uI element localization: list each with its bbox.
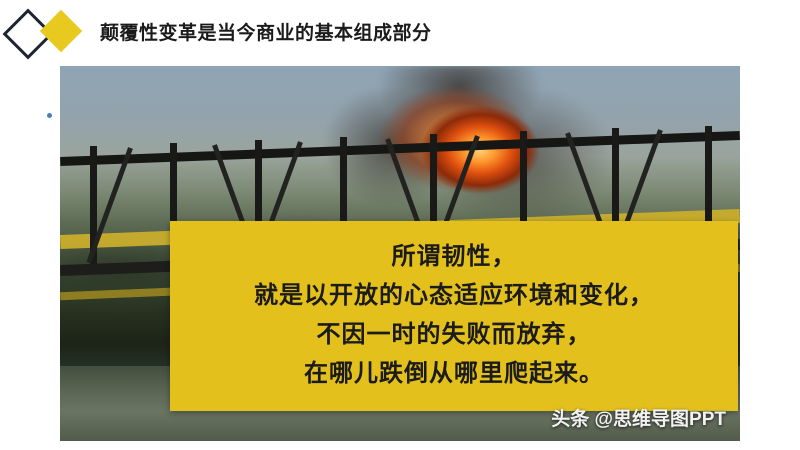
page-title: 颠覆性变革是当今商业的基本组成部分 <box>100 18 432 45</box>
decor-dot-blue <box>47 113 52 118</box>
quote-line: 就是以开放的心态适应环境和变化， <box>254 277 654 316</box>
quote-line: 在哪儿跌倒从哪里爬起来。 <box>304 355 604 394</box>
quote-card: 所谓韧性， 就是以开放的心态适应环境和变化， 不因一时的失败而放弃， 在哪儿跌倒… <box>170 221 738 411</box>
quote-line: 所谓韧性， <box>392 238 517 277</box>
slide-header: 颠覆性变革是当今商业的基本组成部分 <box>0 0 800 62</box>
slide: 颠覆性变革是当今商业的基本组成部分 <box>0 0 800 450</box>
bridge-top-chord <box>60 131 740 166</box>
diamond-decoration <box>8 14 90 52</box>
watermark: 头条 @思维导图PPT <box>551 404 726 431</box>
quote-line: 不因一时的失败而放弃， <box>317 316 592 355</box>
slide-image: 所谓韧性， 就是以开放的心态适应环境和变化， 不因一时的失败而放弃， 在哪儿跌倒… <box>60 66 740 441</box>
diamond-filled-icon <box>40 10 82 52</box>
